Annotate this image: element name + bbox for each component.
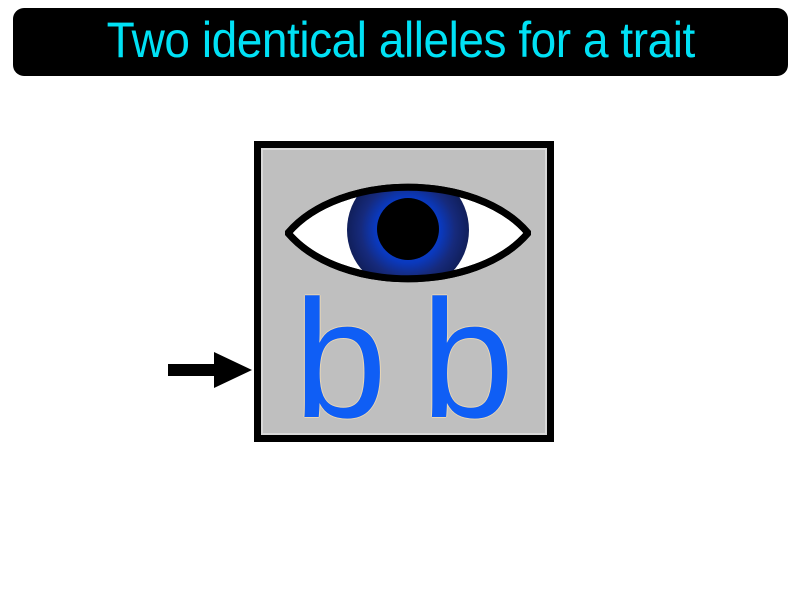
genotype-illustration-frame: b b: [254, 141, 554, 442]
allele-2: b: [421, 286, 514, 434]
allele-1: b: [294, 286, 387, 434]
slide-canvas: Two identical alleles for a trait: [0, 0, 800, 600]
title-banner: Two identical alleles for a trait: [13, 8, 788, 76]
page-title: Two identical alleles for a trait: [106, 15, 694, 69]
right-arrow-glyph: [168, 350, 254, 390]
right-arrow-icon: [168, 350, 254, 390]
allele-pair: b b: [263, 286, 545, 426]
genotype-illustration: b b: [261, 148, 547, 435]
